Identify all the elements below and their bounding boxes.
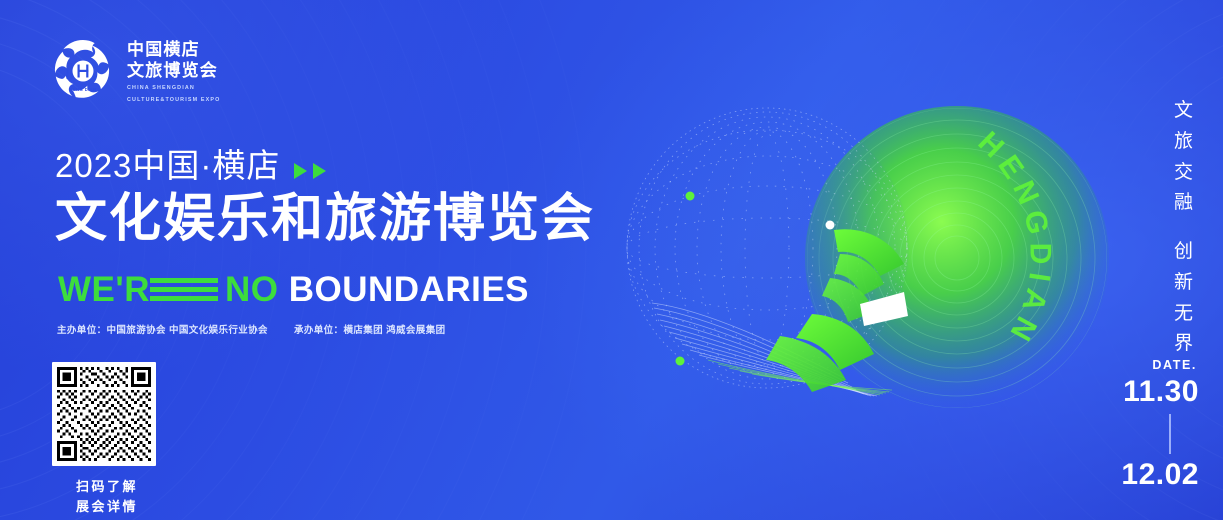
triangle-arrow-icon xyxy=(313,163,326,179)
slogan-char: 新 xyxy=(1174,268,1195,299)
slogan-char: 融 xyxy=(1174,188,1195,219)
slogan-line-2: 创 新 无 界 xyxy=(1174,237,1195,360)
logo-english-line2: CULTURE&TOURISM EXPO xyxy=(127,97,220,105)
promo-banner: HENG DIAN 中国横店 文旅博览会 CHINA SHENGDIAN CUL… xyxy=(0,0,1223,520)
headline-block: 2023中国·横店 文化娱乐和旅游博览会 xyxy=(55,148,595,249)
arrow-markers xyxy=(294,153,326,179)
tagline-part2: NO xyxy=(225,270,279,310)
tagline-part3: BOUNDARIES xyxy=(289,270,529,310)
organizer-credits: 主办单位：中国旅游协会 中国文化娱乐行业协会 承办单位：横店集团 鸿威会展集团 xyxy=(57,322,446,336)
event-title: 文化娱乐和旅游博览会 xyxy=(55,190,595,248)
qr-code-image[interactable] xyxy=(52,362,156,466)
qr-code-block[interactable]: 扫码了解 展会详情 xyxy=(52,362,162,516)
qr-caption: 扫码了解 展会详情 xyxy=(52,477,162,516)
vertical-slogan: 文 旅 交 融 创 新 无 界 xyxy=(1174,96,1195,360)
organizing-unit: 承办单位：横店集团 鸿威会展集团 xyxy=(294,322,446,336)
logo-chinese-line2: 文旅博览会 xyxy=(127,61,220,81)
logo-english-line1: CHINA SHENGDIAN xyxy=(127,85,220,93)
hengdian-emblem-icon: HENG DIAN xyxy=(50,38,116,104)
slogan-char: 无 xyxy=(1174,299,1195,330)
date-end: 12.02 xyxy=(1121,458,1199,492)
central-artwork: HENGDIAN xyxy=(612,78,1112,438)
date-divider xyxy=(1169,414,1171,454)
qr-caption-line1: 扫码了解 xyxy=(76,479,138,494)
event-year-location: 2023中国·横店 xyxy=(55,148,280,184)
slogan-char: 文 xyxy=(1174,96,1195,127)
slogan-char: 交 xyxy=(1174,158,1195,189)
slogan-char: 旅 xyxy=(1174,127,1195,158)
slogan-char: 界 xyxy=(1174,329,1195,360)
svg-text:HENG DIAN: HENG DIAN xyxy=(69,87,96,92)
tagline-part1: WE'R xyxy=(58,270,150,310)
english-tagline: WE'R NO BOUNDARIES xyxy=(58,270,529,310)
date-start: 11.30 xyxy=(1123,375,1199,409)
host-organization: 主办单位：中国旅游协会 中国文化娱乐行业协会 xyxy=(57,322,268,336)
event-date-block: DATE. 11.30 12.02 xyxy=(1121,358,1199,491)
logo-chinese-line1: 中国横店 xyxy=(127,40,220,60)
date-label: DATE. xyxy=(1152,358,1197,372)
logo-lockup: HENG DIAN 中国横店 文旅博览会 CHINA SHENGDIAN CUL… xyxy=(50,38,220,105)
slogan-line-1: 文 旅 交 融 xyxy=(1174,96,1195,219)
qr-caption-line2: 展会详情 xyxy=(76,499,138,514)
triangle-arrow-icon xyxy=(294,163,307,179)
tagline-e-bars-icon xyxy=(150,278,218,303)
slogan-char: 创 xyxy=(1174,237,1195,268)
